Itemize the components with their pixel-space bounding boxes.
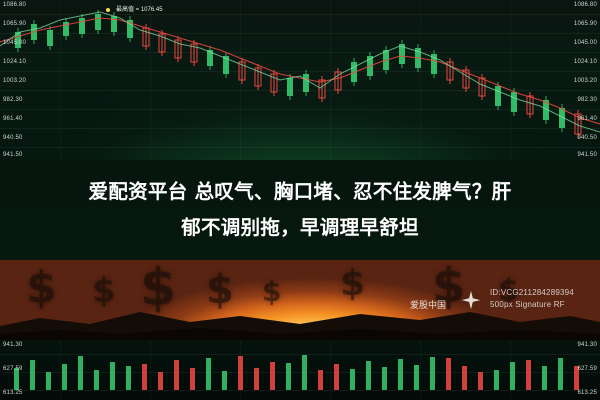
y-axis-tick-left: 613.25 — [3, 390, 23, 396]
screenshot-stage: 最高值 = 1076.45 1086.80 1065.90 1045.00 10… — [0, 0, 600, 400]
y-axis-tick-left: 1065.90 — [3, 21, 26, 27]
y-axis-tick-right: 1024.10 — [574, 59, 597, 65]
y-axis-tick-right: 1065.90 — [574, 21, 597, 27]
y-axis-tick-left: 1003.20 — [3, 78, 26, 84]
y-axis-tick-left: 961.40 — [3, 116, 23, 122]
y-axis-tick-right: 613.25 — [577, 390, 597, 396]
watermark-brand: 爱股中国 — [410, 298, 446, 311]
y-axis-tick-right: 1086.80 — [574, 2, 597, 8]
stock-chart-lower-panel: 941.30 627.59 613.25 941.30 627.59 613.2… — [0, 340, 600, 400]
watermark-id: ID:VCG211284289394 — [490, 288, 574, 297]
volume-bar-series — [0, 340, 600, 400]
dollar-sign-icon: $ — [206, 270, 234, 310]
headline-line-1: 爱配资平台 总叹气、胸口堵、忍不住发脾气？肝 — [20, 174, 580, 210]
dollar-sign-icon: $ — [26, 266, 57, 310]
y-axis-tick-right: 982.30 — [577, 97, 597, 103]
stock-chart-main-panel: 最高值 = 1076.45 1086.80 1065.90 1045.00 10… — [0, 0, 600, 160]
sunset-photo: $ $ $ $ $ $ $ $ 爱股中国 ID:VCG211284289394 … — [0, 260, 600, 340]
peak-annotation: 最高值 = 1076.45 — [116, 4, 163, 13]
dollar-sign-icon: $ — [140, 262, 176, 314]
y-axis-tick-right: 1045.00 — [574, 40, 597, 46]
y-axis-tick-left: 941.30 — [3, 342, 23, 348]
y-axis-tick-right: 627.59 — [577, 366, 597, 372]
y-axis-tick-left: 1045.00 — [3, 40, 26, 46]
y-axis-tick-left: 627.59 — [3, 366, 23, 372]
candlestick-series — [0, 0, 600, 160]
y-axis-tick-left: 1086.80 — [3, 2, 26, 8]
y-axis-tick-right: 941.30 — [577, 342, 597, 348]
y-axis-tick-right: 941.50 — [577, 152, 597, 158]
headline-line-2: 郁不调别拖，早调理早舒坦 — [20, 210, 580, 246]
y-axis-tick-left: 940.50 — [3, 135, 23, 141]
y-axis-tick-left: 982.30 — [3, 97, 23, 103]
y-axis-tick-right: 961.40 — [577, 116, 597, 122]
y-axis-tick-right: 1003.20 — [574, 78, 597, 84]
watermark-license: 500px Signature RF — [490, 300, 565, 309]
headline-banner: 爱配资平台 总叹气、胸口堵、忍不住发脾气？肝 郁不调别拖，早调理早舒坦 — [0, 160, 600, 260]
y-axis-tick-right: 940.50 — [577, 135, 597, 141]
y-axis-tick-left: 941.50 — [3, 152, 23, 158]
dollar-sign-icon: $ — [340, 266, 365, 302]
y-axis-tick-left: 1024.10 — [3, 59, 26, 65]
headline-text: 爱配资平台 总叹气、胸口堵、忍不住发脾气？肝 郁不调别拖，早调理早舒坦 — [20, 174, 580, 246]
dollar-sign-icon: $ — [262, 278, 281, 306]
dollar-sign-icon: $ — [92, 274, 116, 308]
sparkle-icon — [460, 290, 482, 312]
